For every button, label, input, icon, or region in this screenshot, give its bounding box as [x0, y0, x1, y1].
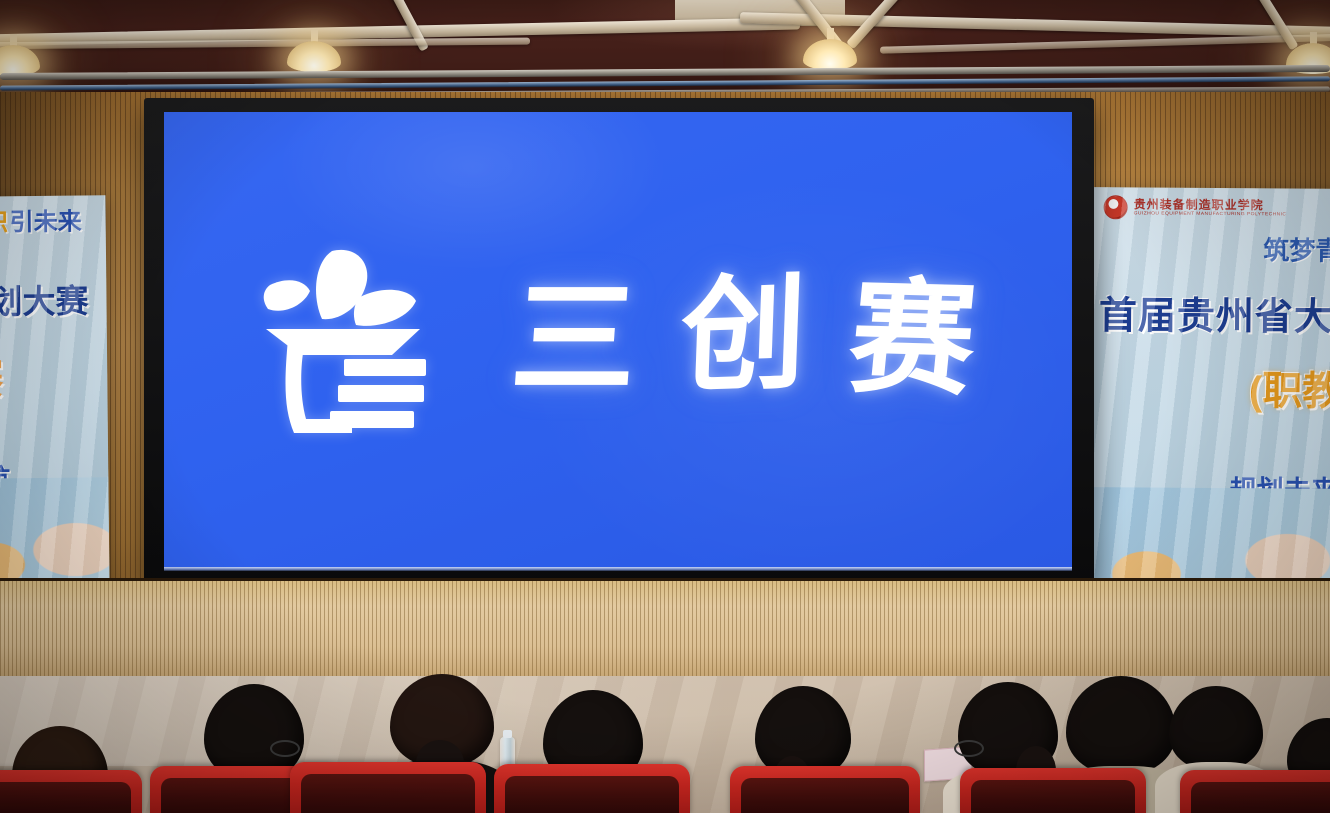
banner-right-title: 首届贵州省大学 — [1093, 284, 1330, 341]
slide-content: 三 创 赛 — [164, 112, 1072, 567]
banner-right-crest: 贵州装备制造职业学院 GUIZHOU EQUIPMENT MANUFACTURI… — [1094, 187, 1330, 221]
ceiling-lamp — [803, 28, 857, 70]
banner-left-orange-word: 赛 — [0, 344, 108, 407]
banner-left-top-row: 航职引未来 — [0, 195, 106, 238]
stage-slat-wall — [0, 578, 1330, 681]
seat-cushion — [505, 776, 679, 813]
lamp-dome — [803, 39, 857, 70]
banner-right-subtitle: 筑梦青 — [1093, 219, 1330, 268]
banner-left-top-line: 航职引未来 — [0, 201, 106, 238]
wordmark-char-1: 三 — [507, 277, 643, 402]
ceiling-lamp — [0, 34, 40, 76]
seat-cushion — [0, 782, 131, 813]
theater-seat[interactable] — [290, 762, 486, 813]
seat-cushion — [741, 778, 909, 813]
wordmark-char-3: 赛 — [844, 275, 983, 403]
person-head — [1169, 686, 1263, 770]
slide-wordmark: 三 创 赛 — [507, 277, 981, 402]
banner-left-top-b: 引未来 — [10, 208, 82, 236]
banner-left-title: 规划大赛 — [0, 274, 107, 324]
school-seal-icon — [1104, 195, 1128, 219]
ceiling-beam — [880, 33, 1330, 53]
auditorium-photo: 航职引未来 规划大赛 赛 启航 未来 院 限公司贵州省分行 贵州装备制造职业学院… — [0, 0, 1330, 813]
seat-cushion — [301, 774, 475, 813]
seat-cushion — [971, 780, 1135, 813]
banner-right-crest-en: GUIZHOU EQUIPMENT MANUFACTURING POLYTECH… — [1134, 211, 1287, 217]
theater-seat[interactable] — [494, 764, 690, 813]
led-screen-bottom-strip — [164, 567, 1072, 571]
glasses-icon — [954, 740, 984, 757]
led-screen: 三 创 赛 — [164, 112, 1072, 567]
banner-right-crest-text: 贵州装备制造职业学院 GUIZHOU EQUIPMENT MANUFACTURI… — [1134, 198, 1287, 217]
led-screen-frame: 三 创 赛 — [144, 98, 1094, 586]
seat-cushion — [1191, 782, 1330, 813]
torch-book-logo-icon — [260, 243, 440, 443]
banner-left-top-highlight: 职 — [0, 209, 10, 236]
theater-seat[interactable] — [0, 770, 142, 813]
theater-seat[interactable] — [1180, 770, 1330, 813]
person-head — [1066, 676, 1176, 774]
banner-right-title2: (职教 — [1092, 357, 1330, 417]
ceiling-lamp — [287, 30, 341, 72]
theater-seat[interactable] — [960, 768, 1146, 813]
wordmark-char-2: 创 — [678, 271, 810, 400]
glasses-icon — [270, 740, 300, 757]
lamp-dome — [287, 41, 341, 72]
lamp-dome — [0, 45, 40, 76]
ceiling — [0, 0, 1330, 96]
theater-seat[interactable] — [730, 766, 920, 813]
